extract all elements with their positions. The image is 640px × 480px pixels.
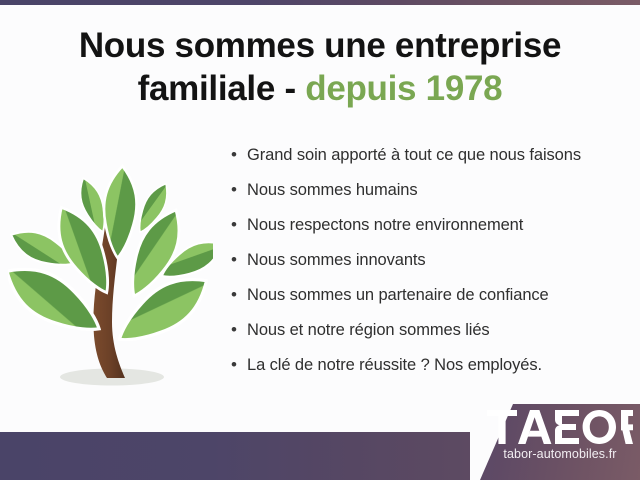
bullet-marker-icon: • xyxy=(231,356,247,373)
logo-tagline: tabor-automobiles.fr xyxy=(487,447,633,461)
bullet-marker-icon: • xyxy=(231,286,247,303)
bullet-marker-icon: • xyxy=(231,146,247,163)
bullet-marker-icon: • xyxy=(231,181,247,198)
bullet-marker-icon: • xyxy=(231,251,247,268)
headline-line-1: Nous sommes une entreprise xyxy=(79,26,561,65)
benefits-list: • Grand soin apporté à tout ce que nous … xyxy=(231,146,631,391)
list-item-label: La clé de notre réussite ? Nos employés. xyxy=(247,356,542,375)
bullet-marker-icon: • xyxy=(231,321,247,338)
list-item-label: Nous et notre région sommes liés xyxy=(247,321,490,340)
headline-line-2-plain: familiale - xyxy=(138,69,306,108)
list-item: • La clé de notre réussite ? Nos employé… xyxy=(231,356,631,391)
list-item: • Nous sommes innovants xyxy=(231,251,631,286)
headline-line-2-accent: depuis 1978 xyxy=(305,69,502,108)
top-accent-bar xyxy=(0,0,640,5)
list-item-label: Grand soin apporté à tout ce que nous fa… xyxy=(247,146,581,165)
tree-illustration xyxy=(8,150,213,395)
footer-bar xyxy=(0,432,470,480)
list-item-label: Nous respectons notre environnement xyxy=(247,216,523,235)
list-item-label: Nous sommes un partenaire de confiance xyxy=(247,286,549,305)
page-title: Nous sommes une entreprise familiale - d… xyxy=(0,24,640,111)
headline-line-2: familiale - depuis 1978 xyxy=(0,67,640,110)
slide-canvas: Nous sommes une entreprise familiale - d… xyxy=(0,0,640,480)
list-item: • Nous sommes un partenaire de confiance xyxy=(231,286,631,321)
list-item: • Grand soin apporté à tout ce que nous … xyxy=(231,146,631,181)
list-item: • Nous sommes humains xyxy=(231,181,631,216)
list-item-label: Nous sommes humains xyxy=(247,181,418,200)
list-item: • Nous respectons notre environnement xyxy=(231,216,631,251)
brand-logo[interactable]: tabor-automobiles.fr xyxy=(487,410,635,461)
bullet-marker-icon: • xyxy=(231,216,247,233)
list-item-label: Nous sommes innovants xyxy=(247,251,426,270)
tabor-wordmark-icon xyxy=(487,410,635,444)
list-item: • Nous et notre région sommes liés xyxy=(231,321,631,356)
